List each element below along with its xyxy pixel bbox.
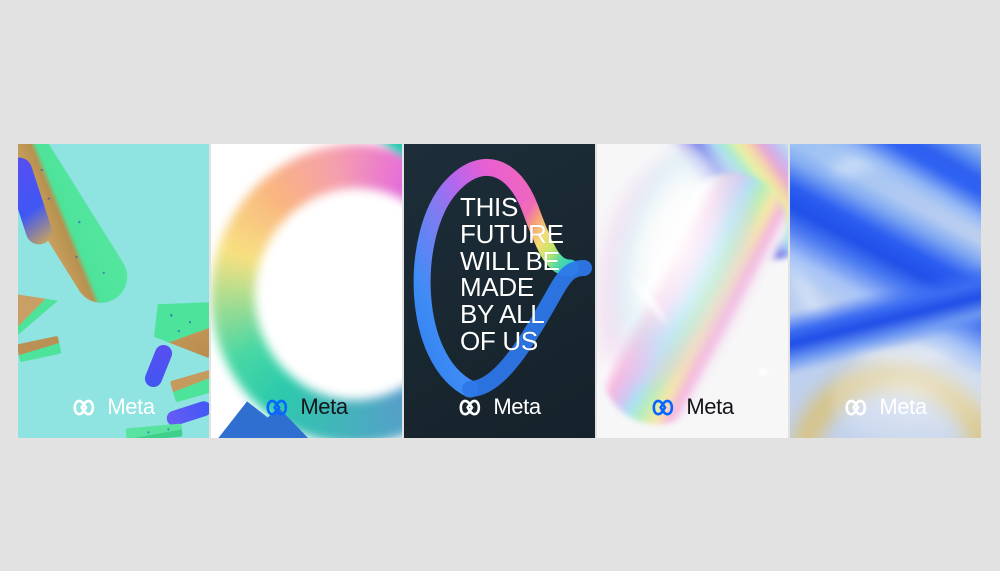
meta-logo-lockup[interactable]: Meta (597, 396, 788, 418)
poster-panel-blue-brush[interactable]: Meta (790, 144, 981, 438)
confetti-chip-sliver-2 (18, 336, 61, 362)
headline-line-5: BY ALL (460, 301, 595, 328)
headline-line-6: OF US (460, 328, 595, 355)
meta-infinity-icon (72, 398, 100, 417)
headline-line-1: THIS (460, 194, 595, 221)
poster-headline: THIS FUTURE WILL BE MADE BY ALL OF US (460, 194, 595, 355)
meta-wordmark: Meta (107, 396, 154, 418)
meta-wordmark: Meta (686, 396, 733, 418)
poster-panel-blue-swoosh[interactable]: Meta (211, 144, 402, 438)
meta-logo-lockup[interactable]: Meta (18, 396, 209, 418)
poster-panel-teal-confetti[interactable]: Meta (18, 144, 209, 438)
meta-wordmark: Meta (300, 396, 347, 418)
poster-series-canvas: Meta Meta (0, 0, 1000, 571)
confetti-chip-sliver-3 (126, 424, 183, 438)
poster-panel-headline[interactable]: THIS FUTURE WILL BE MADE BY ALL OF US Me… (404, 144, 595, 438)
poster-panel-iridescent[interactable]: Meta (597, 144, 788, 438)
confetti-chip-triangle-1 (18, 292, 58, 340)
meta-wordmark: Meta (879, 396, 926, 418)
meta-infinity-icon (844, 398, 872, 417)
headline-line-4: MADE (460, 274, 595, 301)
meta-logo-lockup[interactable]: Meta (211, 396, 402, 418)
headline-line-2: FUTURE (460, 221, 595, 248)
meta-logo-lockup[interactable]: Meta (790, 396, 981, 418)
meta-infinity-icon (651, 398, 679, 417)
headline-line-3: WILL BE (460, 248, 595, 275)
meta-wordmark: Meta (493, 396, 540, 418)
ribbon-specular-dot (755, 366, 771, 378)
meta-infinity-icon (458, 398, 486, 417)
panel-strip: Meta Meta (18, 144, 983, 438)
meta-infinity-icon (265, 398, 293, 417)
meta-logo-lockup[interactable]: Meta (404, 396, 595, 418)
